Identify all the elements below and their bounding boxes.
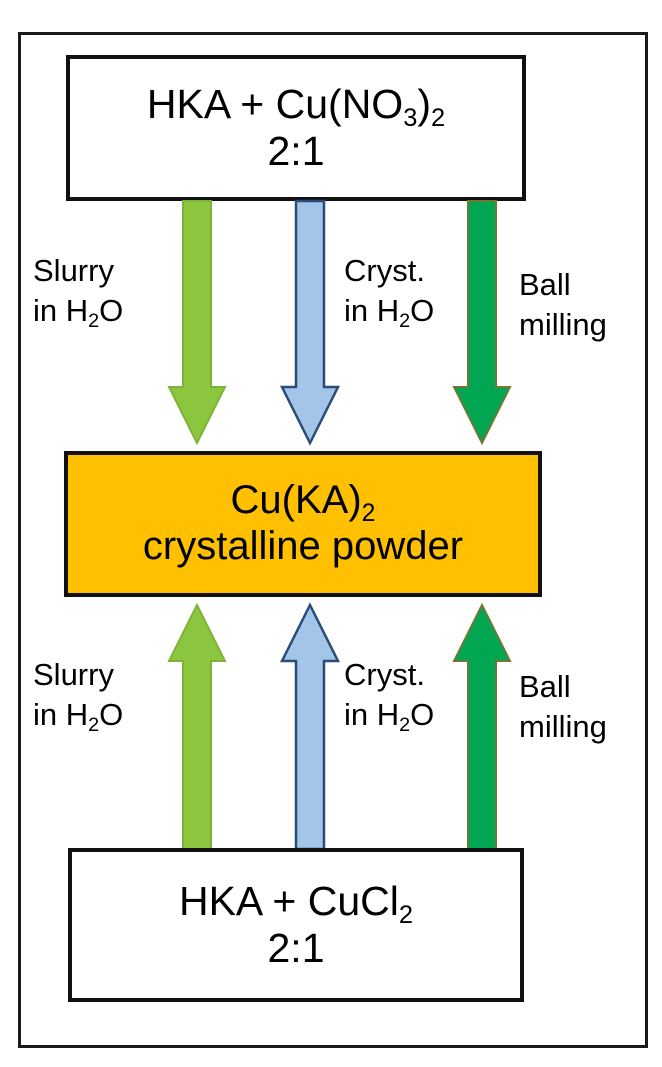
- formula-subscript-2: 2: [362, 500, 376, 527]
- label-line-2: milling: [519, 307, 607, 342]
- arrow-down-ball-milling: [453, 201, 511, 444]
- product-formula: Cu(KA)2: [231, 478, 376, 524]
- label-crystallization-bottom: Cryst. in H2O: [344, 655, 434, 736]
- label-text: in H: [33, 293, 88, 328]
- arrow-shape: [454, 201, 510, 443]
- formula-text: HKA + CuCl: [179, 878, 399, 924]
- arrow-down-crystallization: [281, 201, 339, 444]
- label-text: in H: [33, 697, 88, 732]
- label-line-1: Ball: [519, 669, 571, 704]
- label-line-2: in H2O: [344, 293, 434, 328]
- label-ball-milling-bottom: Ball milling: [519, 667, 607, 748]
- label-text: in H: [344, 293, 399, 328]
- formula-text: Cu(KA): [231, 478, 362, 522]
- arrow-shape: [282, 201, 338, 443]
- label-text-post: O: [99, 697, 123, 732]
- label-slurry-top: Slurry in H2O: [33, 251, 123, 332]
- arrow-down-slurry: [168, 201, 226, 444]
- precursor-nitrate-ratio: 2:1: [268, 128, 325, 175]
- label-subscript: 2: [399, 714, 410, 736]
- label-line-1: Slurry: [33, 253, 114, 288]
- label-slurry-bottom: Slurry in H2O: [33, 655, 123, 736]
- label-line-2: in H2O: [344, 697, 434, 732]
- precursor-nitrate-formula: HKA + Cu(NO3)2: [147, 81, 445, 128]
- formula-subscript-3: 3: [403, 104, 417, 132]
- label-text: in H: [344, 697, 399, 732]
- label-subscript: 2: [88, 714, 99, 736]
- label-line-1: Ball: [519, 267, 571, 302]
- arrow-up-slurry: [168, 604, 226, 850]
- formula-subscript-2: 2: [431, 104, 445, 132]
- label-text-post: O: [410, 293, 434, 328]
- precursor-chloride-formula: HKA + CuCl2: [179, 878, 413, 925]
- label-line-2: in H2O: [33, 293, 123, 328]
- formula-paren: ): [417, 81, 431, 127]
- label-ball-milling-top: Ball milling: [519, 265, 607, 346]
- label-subscript: 2: [399, 310, 410, 332]
- precursor-chloride-box: HKA + CuCl2 2:1: [68, 848, 524, 1002]
- arrow-shape: [454, 605, 510, 849]
- synthesis-scheme-diagram: HKA + Cu(NO3)2 2:1 Slurry in H2O Cryst. …: [0, 0, 662, 1067]
- precursor-nitrate-box: HKA + Cu(NO3)2 2:1: [66, 55, 526, 201]
- product-description: crystalline powder: [143, 524, 463, 570]
- arrow-shape: [169, 605, 225, 849]
- label-line-1: Cryst.: [344, 657, 425, 692]
- precursor-chloride-ratio: 2:1: [268, 925, 325, 972]
- product-box: Cu(KA)2 crystalline powder: [64, 451, 542, 597]
- formula-text: HKA + Cu(NO: [147, 81, 403, 127]
- arrow-up-ball-milling: [453, 604, 511, 850]
- label-text-post: O: [410, 697, 434, 732]
- arrow-shape: [282, 605, 338, 849]
- label-subscript: 2: [88, 310, 99, 332]
- arrow-shape: [169, 201, 225, 443]
- label-line-2: milling: [519, 709, 607, 744]
- label-line-2: in H2O: [33, 697, 123, 732]
- label-line-1: Cryst.: [344, 253, 425, 288]
- label-text-post: O: [99, 293, 123, 328]
- formula-subscript-2: 2: [399, 901, 413, 929]
- arrow-up-crystallization: [281, 604, 339, 850]
- label-line-1: Slurry: [33, 657, 114, 692]
- label-crystallization-top: Cryst. in H2O: [344, 251, 434, 332]
